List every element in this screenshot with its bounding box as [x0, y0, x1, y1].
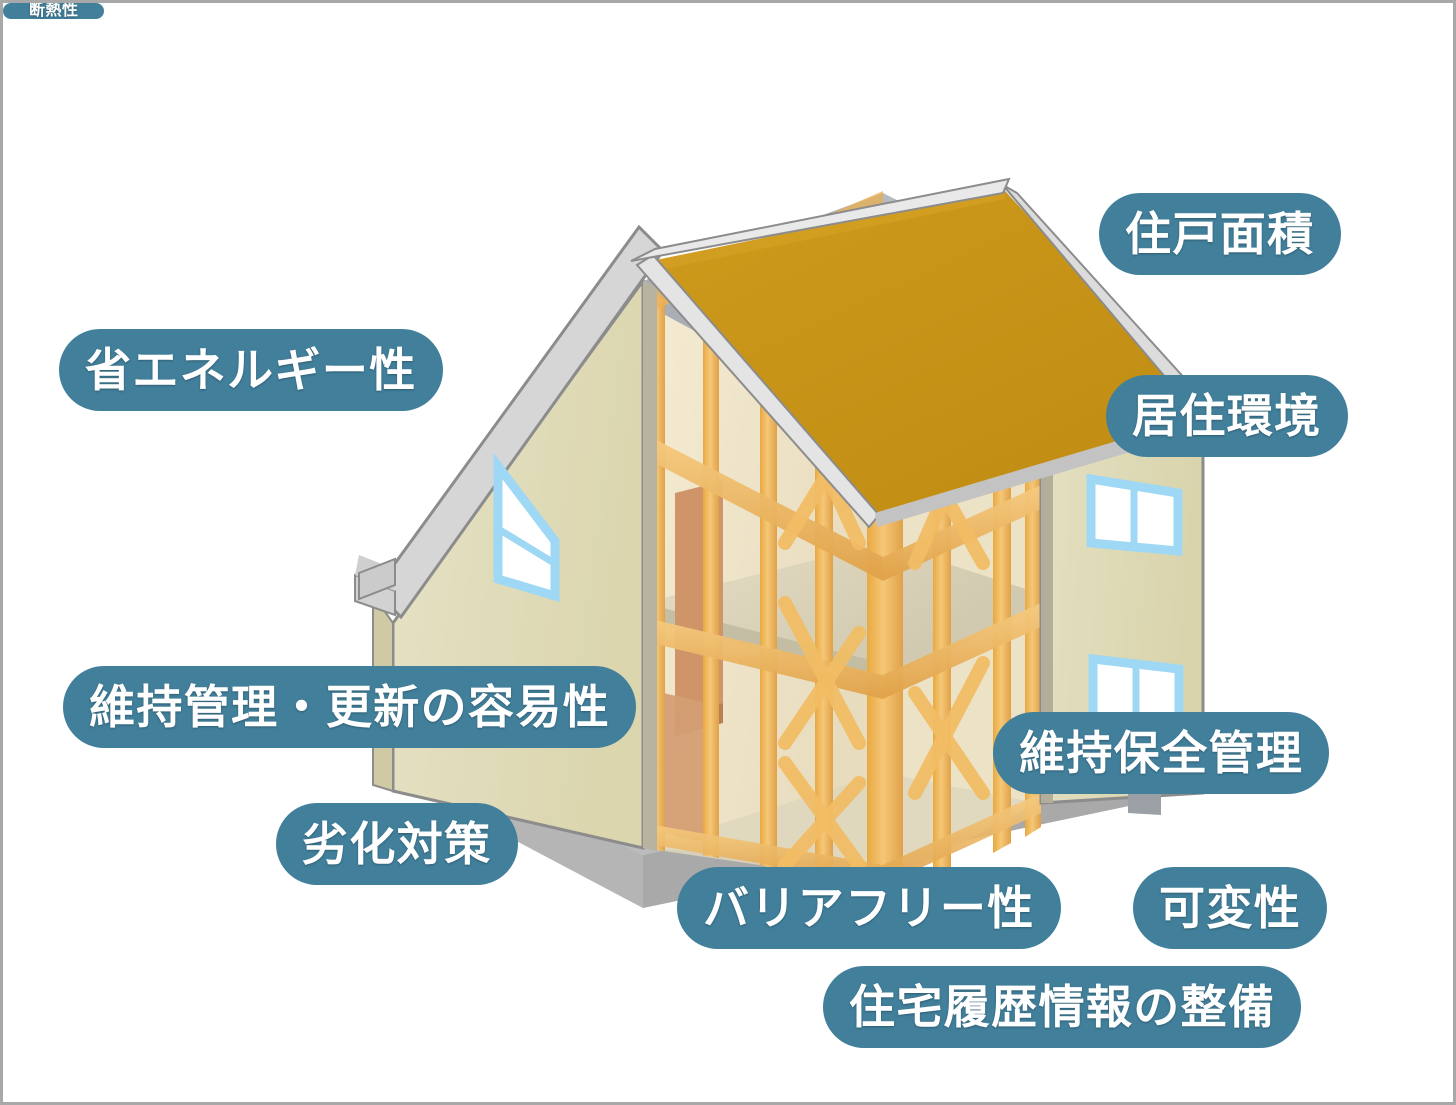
window-upper-right: [1091, 479, 1178, 551]
badge-living-environment[interactable]: 居住環境: [1106, 375, 1348, 457]
badge-energy-saving[interactable]: 省エネルギー性: [59, 329, 443, 411]
badge-variability[interactable]: 可変性: [1133, 867, 1327, 949]
badge-thermal-insulation[interactable]: 断熱性: [3, 3, 104, 19]
badge-label: 可変性: [1159, 885, 1301, 931]
badge-label: 維持保全管理: [1019, 730, 1303, 776]
badge-label: 劣化対策: [302, 821, 492, 867]
badge-housing-history-info[interactable]: 住宅履歴情報の整備: [823, 966, 1301, 1048]
badge-label: 住宅履歴情報の整備: [849, 984, 1275, 1030]
badge-deterioration-measures[interactable]: 劣化対策: [276, 803, 518, 885]
badge-label: 省エネルギー性: [85, 347, 417, 393]
badge-label: 居住環境: [1132, 393, 1322, 439]
badge-maintenance-preservation[interactable]: 維持保全管理: [993, 712, 1329, 794]
badge-label: 住戸面積: [1125, 211, 1315, 257]
badge-maintenance-renewal-ease[interactable]: 維持管理・更新の容易性: [63, 666, 636, 748]
badge-label: 維持管理・更新の容易性: [89, 684, 610, 730]
badge-dwelling-area[interactable]: 住戸面積: [1099, 193, 1341, 275]
badge-label: 断熱性: [29, 3, 78, 19]
badge-barrier-free[interactable]: バリアフリー性: [677, 867, 1061, 949]
badge-label: バリアフリー性: [703, 885, 1035, 931]
diagram-canvas: 断熱性 住戸面積 省エネルギー性 居住環境 維持管理・更新の容易性 維持保全管理…: [0, 0, 1456, 1105]
